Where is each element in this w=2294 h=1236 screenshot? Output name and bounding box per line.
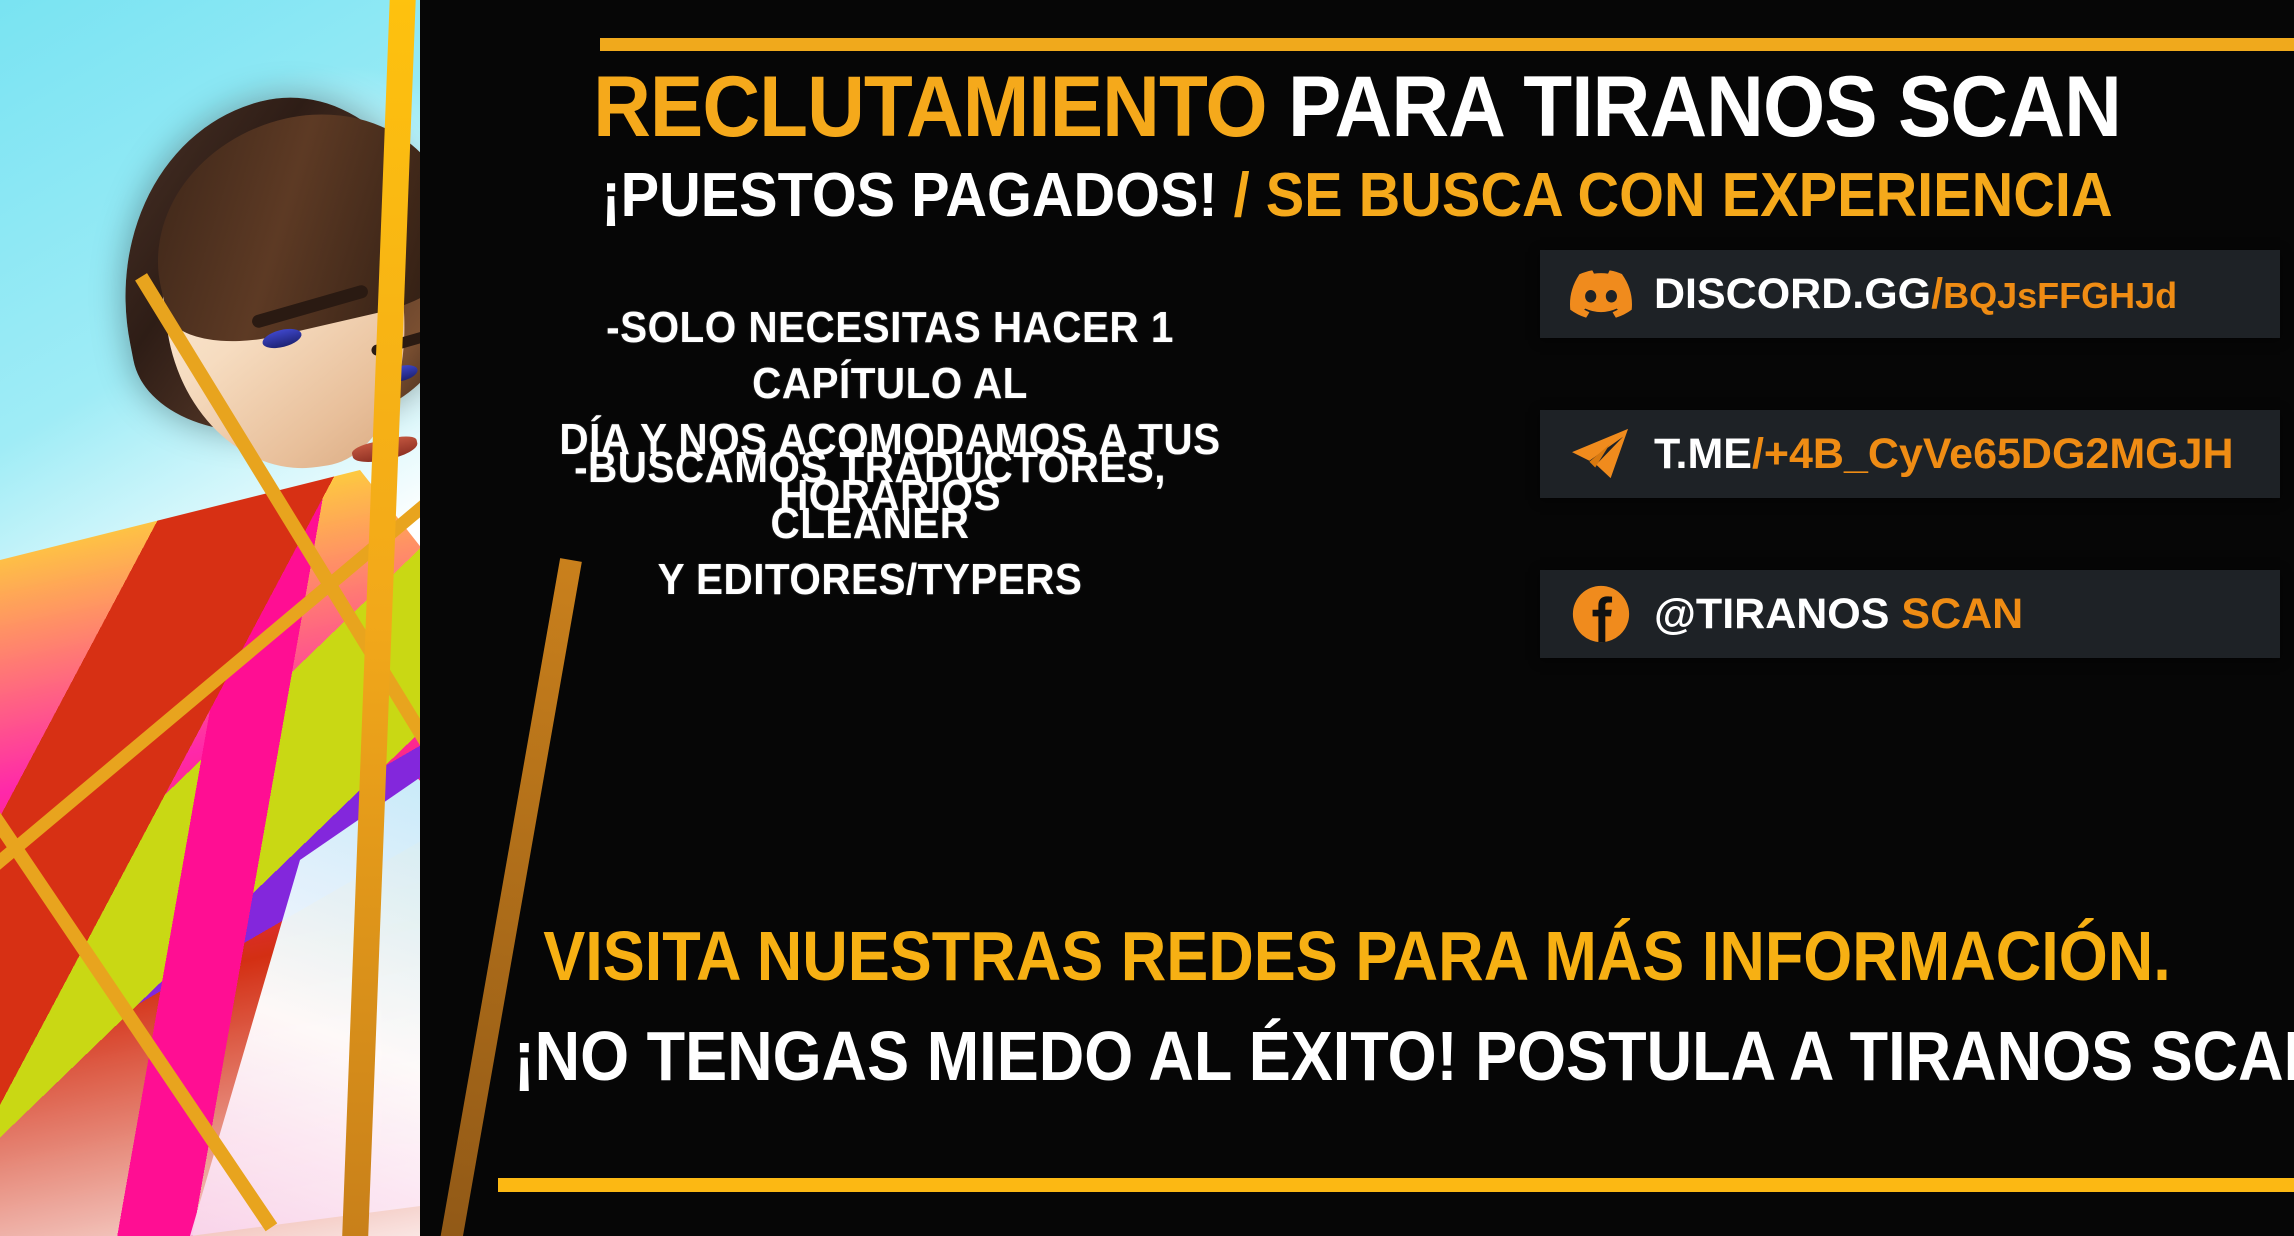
facebook-handle: @TIRANOS	[1654, 590, 1889, 638]
requirement-roles-line1: -BUSCAMOS TRADUCTORES, CLEANER	[502, 440, 1238, 552]
top-gold-rule	[600, 38, 2294, 51]
title-rest: PARA TIRANOS SCAN	[1288, 59, 2121, 155]
subtitle-paid-positions: ¡PUESTOS PAGADOS!	[601, 161, 1217, 230]
discord-invite-code: BQJsFFGHJd	[1943, 275, 2177, 316]
contact-link-telegram[interactable]: T.ME/+4B_CyVe65DG2MGJH	[1540, 410, 2280, 498]
cta-apply: ¡NO TENGAS MIEDO AL ÉXITO! POSTULA A TIR…	[514, 1016, 2201, 1096]
discord-slash: /	[1931, 270, 1943, 318]
requirement-workload-line1: -SOLO NECESITAS HACER 1 CAPÍTULO AL	[513, 300, 1267, 412]
telegram-link-text: T.ME/+4B_CyVe65DG2MGJH	[1654, 430, 2234, 479]
bottom-gold-rule	[498, 1178, 2294, 1192]
telegram-slash: /	[1752, 430, 1764, 478]
contact-link-facebook[interactable]: @TIRANOS SCAN	[1540, 570, 2280, 658]
facebook-link-text: @TIRANOS SCAN	[1654, 590, 2023, 639]
requirement-roles: -BUSCAMOS TRADUCTORES, CLEANER Y EDITORE…	[502, 440, 1238, 608]
telegram-invite-code: +4B_CyVe65DG2MGJH	[1764, 430, 2234, 478]
page-subtitle: ¡PUESTOS PAGADOS! / SE BUSCA CON EXPERIE…	[486, 160, 2229, 231]
subtitle-separator: /	[1234, 161, 1250, 230]
recruitment-banner: RECLUTAMIENTO PARA TIRANOS SCAN ¡PUESTOS…	[0, 0, 2294, 1236]
contact-links-column: DISCORD.GG/BQJsFFGHJd T.ME/+4B_CyVe65DG2…	[1540, 250, 2280, 730]
discord-domain: DISCORD.GG	[1654, 270, 1931, 318]
telegram-icon	[1570, 423, 1632, 485]
subtitle-experience: SE BUSCA CON EXPERIENCIA	[1266, 161, 2113, 230]
telegram-domain: T.ME	[1654, 430, 1752, 478]
page-title: RECLUTAMIENTO PARA TIRANOS SCAN	[486, 58, 2229, 157]
title-highlight: RECLUTAMIENTO	[593, 59, 1267, 155]
facebook-icon	[1570, 583, 1632, 645]
discord-link-text: DISCORD.GG/BQJsFFGHJd	[1654, 270, 2177, 319]
contact-link-discord[interactable]: DISCORD.GG/BQJsFFGHJd	[1540, 250, 2280, 338]
discord-icon	[1570, 263, 1632, 325]
requirement-roles-line2: Y EDITORES/TYPERS	[502, 552, 1238, 608]
cta-visit-networks: VISITA NUESTRAS REDES PARA MÁS INFORMACI…	[514, 916, 2201, 996]
content-panel: RECLUTAMIENTO PARA TIRANOS SCAN ¡PUESTOS…	[420, 0, 2294, 1236]
facebook-handle-suffix: SCAN	[1901, 590, 2023, 638]
